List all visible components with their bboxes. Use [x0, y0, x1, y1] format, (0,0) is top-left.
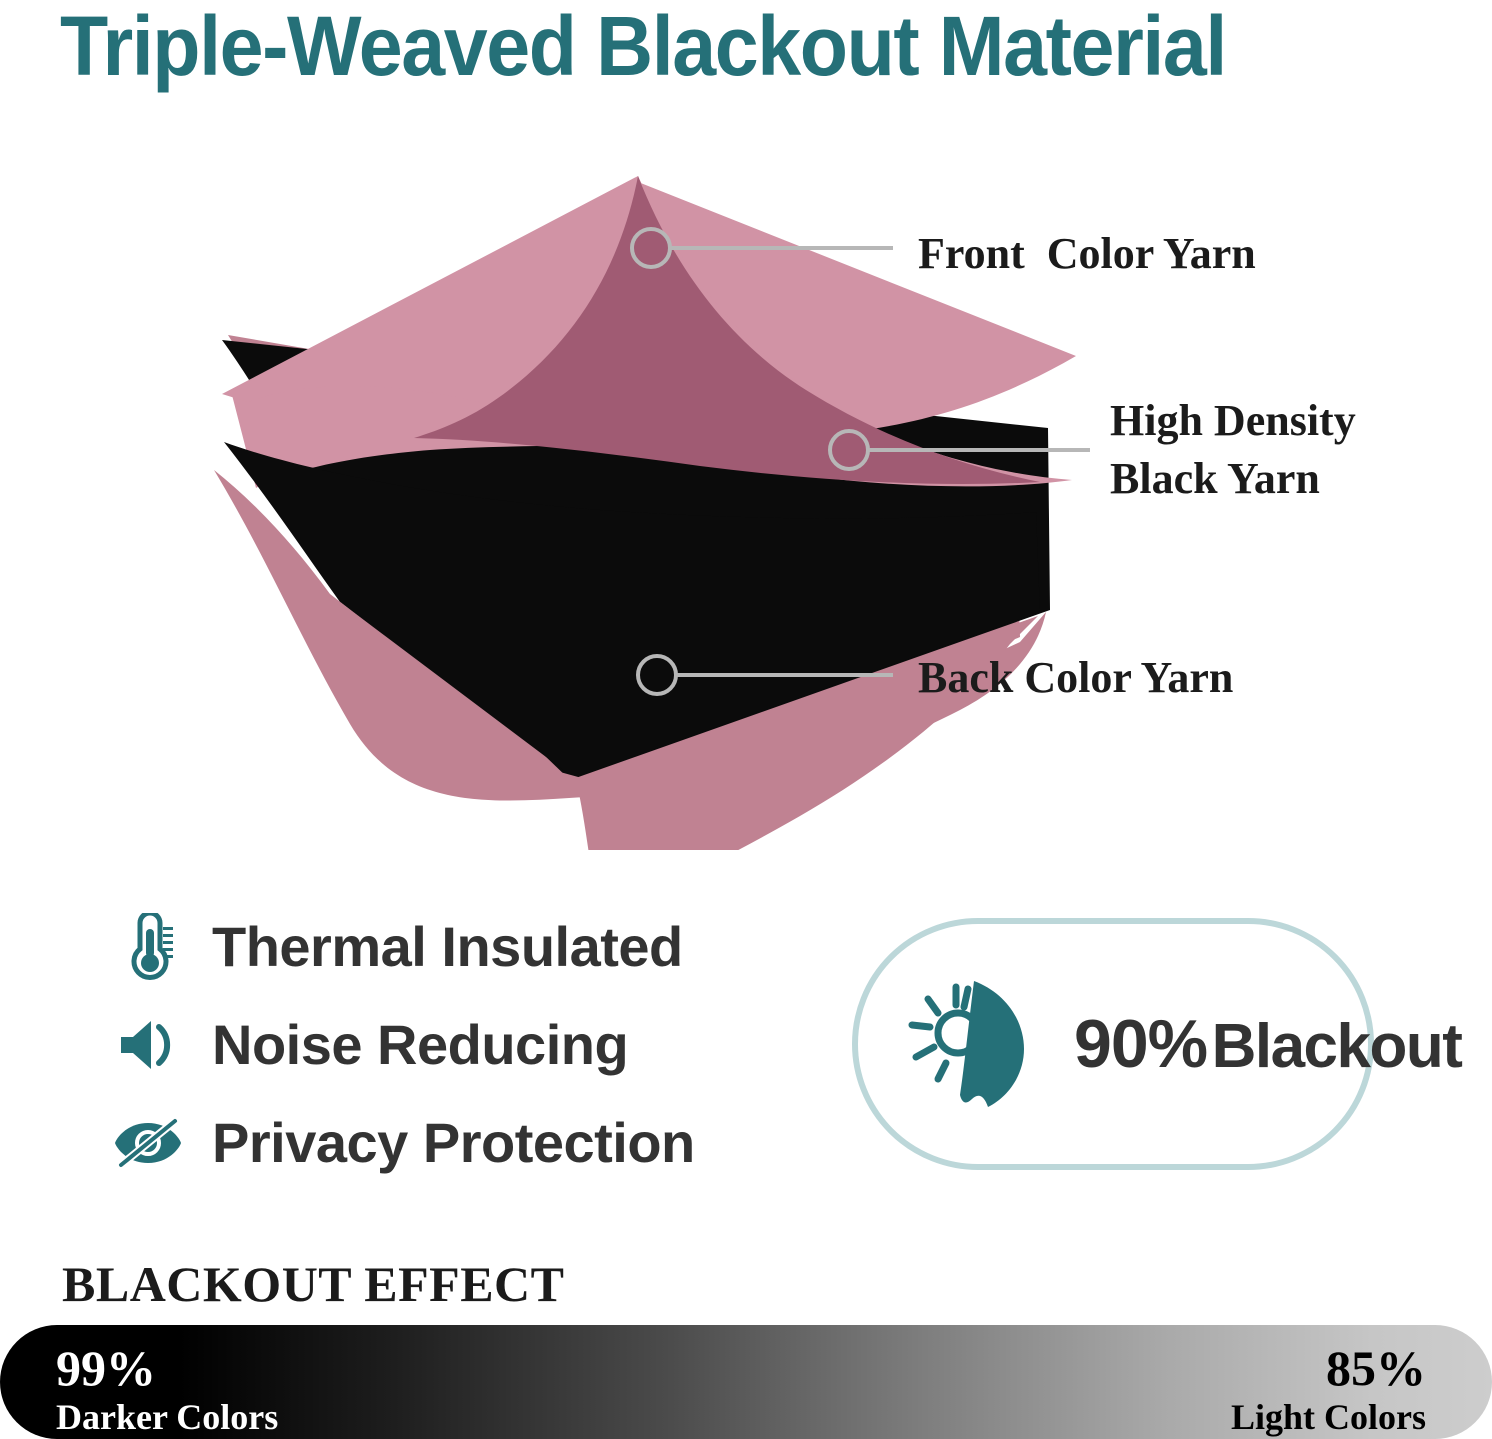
sun-behind-curtain-icon: [900, 969, 1048, 1119]
eye-off-icon: [112, 1107, 184, 1179]
label-back-color-yarn: Back Color Yarn: [918, 652, 1233, 704]
feature-privacy-protection: Privacy Protection: [112, 1094, 812, 1192]
blackout-badge-text: 90% Blackout: [1074, 1010, 1461, 1078]
blackout-percent: 90%: [1074, 1006, 1207, 1082]
blackout-badge: 90% Blackout: [852, 918, 1374, 1170]
blackout-word: Blackout: [1212, 1012, 1462, 1081]
light-colors-stat: 85% Light Colors: [1231, 1343, 1426, 1435]
thermometer-icon: [112, 911, 184, 983]
label-high-density-black-yarn: High DensityBlack Yarn: [1110, 392, 1356, 508]
darker-colors-caption: Darker Colors: [56, 1399, 278, 1435]
light-colors-percent: 85%: [1231, 1343, 1426, 1393]
darker-colors-stat: 99% Darker Colors: [56, 1343, 278, 1435]
darker-colors-percent: 99%: [56, 1343, 278, 1393]
feature-label: Thermal Insulated: [212, 917, 683, 977]
feature-noise-reducing: Noise Reducing: [112, 996, 812, 1094]
speaker-icon: [112, 1009, 184, 1081]
feature-label: Noise Reducing: [212, 1015, 628, 1075]
light-colors-caption: Light Colors: [1231, 1399, 1426, 1435]
feature-thermal-insulated: Thermal Insulated: [112, 898, 812, 996]
page-title: Triple-Weaved Blackout Material: [60, 0, 1376, 98]
label-density-line1: High Density: [1110, 396, 1356, 445]
blackout-effect-gradient-bar: 99% Darker Colors 85% Light Colors: [0, 1325, 1492, 1439]
feature-label: Privacy Protection: [212, 1113, 695, 1173]
label-density-line2: Black Yarn: [1110, 454, 1320, 503]
feature-list: Thermal Insulated Noise Reducing Privacy…: [112, 898, 812, 1192]
label-front-color-yarn: Front Color Yarn: [918, 228, 1256, 280]
blackout-effect-heading: BLACKOUT EFFECT: [62, 1255, 565, 1313]
